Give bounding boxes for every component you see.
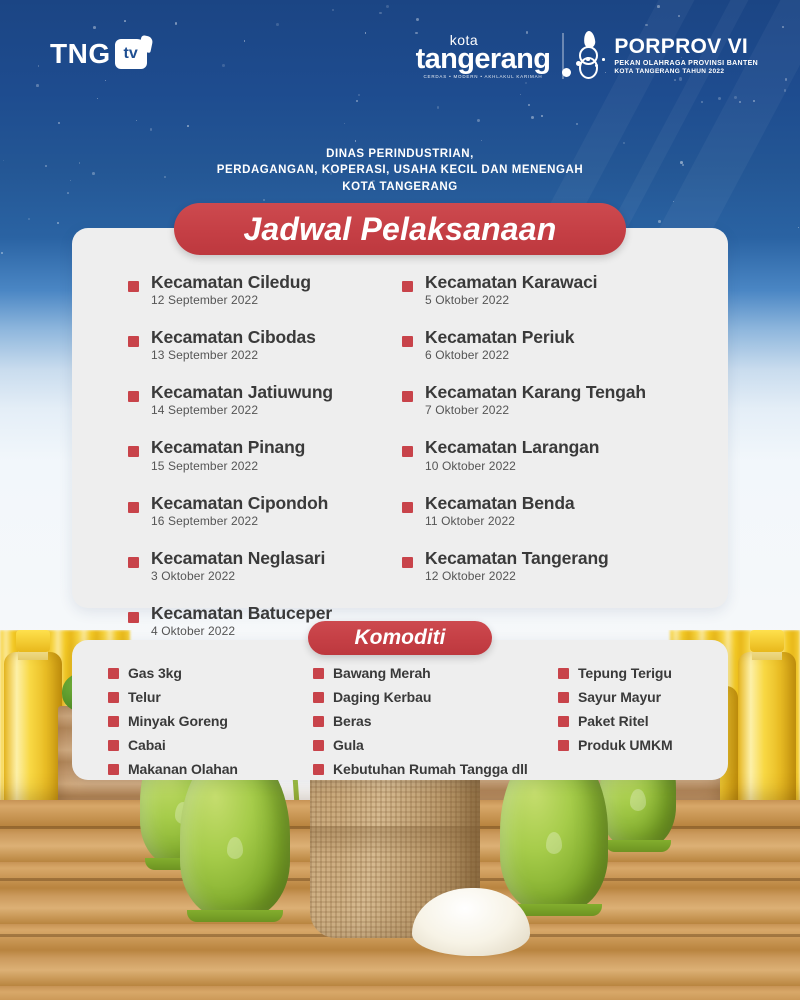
schedule-item-name: Kecamatan Larangan xyxy=(425,437,599,457)
star-dot xyxy=(263,199,265,201)
komoditi-item-label: Daging Kerbau xyxy=(333,689,431,705)
komoditi-column-2: Bawang MerahDaging KerbauBerasGulaKebutu… xyxy=(313,665,558,785)
star-dot xyxy=(222,64,225,67)
komoditi-item-label: Telur xyxy=(128,689,161,705)
star-dot xyxy=(541,115,542,116)
schedule-title-banner: Jadwal Pelaksanaan xyxy=(174,203,626,255)
star-dot xyxy=(437,106,440,109)
komoditi-item: Beras xyxy=(313,713,558,729)
bullet-square-icon xyxy=(128,557,139,568)
schedule-column-left: Kecamatan Ciledug12 September 2022Kecama… xyxy=(128,272,402,658)
schedule-item-text: Kecamatan Benda11 Oktober 2022 xyxy=(425,493,574,528)
komoditi-column-1: Gas 3kgTelurMinyak GorengCabaiMakanan Ol… xyxy=(108,665,313,785)
schedule-item-text: Kecamatan Periuk6 Oktober 2022 xyxy=(425,327,574,362)
bullet-square-icon xyxy=(558,716,569,727)
schedule-item-name: Kecamatan Batuceper xyxy=(151,603,332,623)
bullet-square-icon xyxy=(128,391,139,402)
department-line-1: DINAS PERINDUSTRIAN, xyxy=(0,146,800,162)
schedule-item-date: 10 Oktober 2022 xyxy=(425,459,599,473)
porprov-subtitle-1: PEKAN OLAHRAGA PROVINSI BANTEN xyxy=(614,60,758,67)
komoditi-item-label: Cabai xyxy=(128,737,166,753)
bullet-square-icon xyxy=(128,336,139,347)
bullet-square-icon xyxy=(313,692,324,703)
schedule-item-text: Kecamatan Jatiuwung14 September 2022 xyxy=(151,382,333,417)
star-dot xyxy=(658,220,661,223)
komoditi-item-label: Makanan Olahan xyxy=(128,761,238,777)
bullet-square-icon xyxy=(313,764,324,775)
schedule-item-date: 5 Oktober 2022 xyxy=(425,293,597,307)
cylinder-foot xyxy=(187,910,284,922)
schedule-item-text: Kecamatan Cipondoh16 September 2022 xyxy=(151,493,328,528)
schedule-item-name: Kecamatan Karawaci xyxy=(425,272,597,292)
komoditi-card: Gas 3kgTelurMinyak GorengCabaiMakanan Ol… xyxy=(72,640,728,780)
komoditi-item: Produk UMKM xyxy=(558,737,688,753)
schedule-item-date: 12 Oktober 2022 xyxy=(425,569,609,583)
star-dot xyxy=(93,26,96,29)
komoditi-item: Telur xyxy=(108,689,313,705)
schedule-item-name: Kecamatan Neglasari xyxy=(151,548,325,568)
schedule-item-name: Kecamatan Cibodas xyxy=(151,327,316,347)
komoditi-item: Cabai xyxy=(108,737,313,753)
schedule-item: Kecamatan Ciledug12 September 2022 xyxy=(128,272,402,307)
bullet-square-icon xyxy=(313,716,324,727)
schedule-item-text: Kecamatan Karang Tengah7 Oktober 2022 xyxy=(425,382,646,417)
star-dot xyxy=(481,140,482,141)
kota-dot-icon xyxy=(602,58,605,61)
komoditi-item: Makanan Olahan xyxy=(108,761,313,777)
star-dot xyxy=(520,94,521,95)
bullet-square-icon xyxy=(128,502,139,513)
komoditi-item-label: Bawang Merah xyxy=(333,665,431,681)
komoditi-item: Daging Kerbau xyxy=(313,689,558,705)
schedule-column-right: Kecamatan Karawaci5 Oktober 2022Kecamata… xyxy=(402,272,676,658)
komoditi-item: Kebutuhan Rumah Tangga dll xyxy=(313,761,558,777)
komoditi-item-label: Tepung Terigu xyxy=(578,665,672,681)
schedule-item-date: 11 Oktober 2022 xyxy=(425,514,574,528)
schedule-item-date: 3 Oktober 2022 xyxy=(151,569,325,583)
kota-tangerang-logo[interactable]: kota tangerang CERDAS • MODERN • AKHLAKU… xyxy=(416,33,551,80)
bullet-square-icon xyxy=(108,740,119,751)
schedule-item-name: Kecamatan Karang Tengah xyxy=(425,382,646,402)
star-dot xyxy=(356,100,358,102)
porprov-subtitle-2: KOTA TANGERANG TAHUN 2022 xyxy=(614,69,758,76)
schedule-item-date: 6 Oktober 2022 xyxy=(425,348,574,362)
schedule-item: Kecamatan Larangan10 Oktober 2022 xyxy=(402,437,676,472)
schedule-item: Kecamatan Benda11 Oktober 2022 xyxy=(402,493,676,528)
schedule-item-name: Kecamatan Periuk xyxy=(425,327,574,347)
komoditi-item-label: Sayur Mayur xyxy=(578,689,661,705)
bullet-square-icon xyxy=(108,692,119,703)
star-dot xyxy=(97,98,98,99)
schedule-title-text: Jadwal Pelaksanaan xyxy=(243,211,556,248)
bullet-square-icon xyxy=(402,557,413,568)
kota-dot-icon xyxy=(562,68,571,77)
schedule-item-text: Kecamatan Neglasari3 Oktober 2022 xyxy=(151,548,325,583)
cylinder-foot xyxy=(605,840,672,852)
komoditi-item: Bawang Merah xyxy=(313,665,558,681)
star-dot xyxy=(38,65,40,67)
star-dot xyxy=(525,82,527,84)
flame-emblem xyxy=(546,832,562,854)
komoditi-columns: Gas 3kgTelurMinyak GorengCabaiMakanan Ol… xyxy=(72,665,728,785)
schedule-item-date: 15 September 2022 xyxy=(151,459,305,473)
star-dot xyxy=(344,123,345,124)
star-dot xyxy=(36,84,39,87)
star-dot xyxy=(718,97,721,100)
tangerang-label: tangerang xyxy=(416,45,551,74)
tng-logo-text: TNG xyxy=(50,38,111,70)
star-dot xyxy=(528,104,530,106)
department-line-3: KOTA TANGERANG xyxy=(0,179,800,195)
komoditi-item-label: Gula xyxy=(333,737,364,753)
schedule-item-name: Kecamatan Ciledug xyxy=(151,272,311,292)
komoditi-title-banner: Komoditi xyxy=(308,621,492,655)
bullet-square-icon xyxy=(402,391,413,402)
star-dot xyxy=(332,9,334,11)
flame-emblem xyxy=(630,789,646,811)
schedule-item-name: Kecamatan Pinang xyxy=(151,437,305,457)
bullet-square-icon xyxy=(402,281,413,292)
kota-logo-dots xyxy=(562,56,608,76)
komoditi-column-3: Tepung TeriguSayur MayurPaket RitelProdu… xyxy=(558,665,688,785)
bullet-square-icon xyxy=(402,336,413,347)
star-dot xyxy=(358,94,360,96)
bullet-square-icon xyxy=(558,692,569,703)
star-dot xyxy=(477,119,480,122)
bullet-square-icon xyxy=(108,716,119,727)
tng-tv-logo[interactable]: TNG tv xyxy=(50,38,147,70)
komoditi-item: Gula xyxy=(313,737,558,753)
star-dot xyxy=(379,12,381,14)
star-dot xyxy=(276,23,279,26)
kota-dot-icon xyxy=(576,61,581,66)
komoditi-item: Paket Ritel xyxy=(558,713,688,729)
schedule-item: Kecamatan Karawaci5 Oktober 2022 xyxy=(402,272,676,307)
header-logo-group: kota tangerang CERDAS • MODERN • AKHLAKU… xyxy=(416,30,758,82)
schedule-item-date: 4 Oktober 2022 xyxy=(151,624,332,638)
star-dot xyxy=(58,122,60,124)
schedule-card: Kecamatan Ciledug12 September 2022Kecama… xyxy=(72,228,728,608)
schedule-item-name: Kecamatan Benda xyxy=(425,493,574,513)
tv-badge-text: tv xyxy=(123,46,137,62)
komoditi-item: Tepung Terigu xyxy=(558,665,688,681)
kota-dot-icon xyxy=(586,57,590,61)
komoditi-item: Minyak Goreng xyxy=(108,713,313,729)
schedule-item: Kecamatan Pinang15 September 2022 xyxy=(128,437,402,472)
porprov-title: PORPROV VI xyxy=(614,36,758,58)
star-dot xyxy=(244,40,245,41)
department-heading: DINAS PERINDUSTRIAN, PERDAGANGAN, KOPERA… xyxy=(0,146,800,195)
schedule-item-text: Kecamatan Larangan10 Oktober 2022 xyxy=(425,437,599,472)
star-dot xyxy=(28,218,30,220)
schedule-item-text: Kecamatan Cibodas13 September 2022 xyxy=(151,327,316,362)
star-dot xyxy=(105,80,106,81)
bullet-square-icon xyxy=(313,740,324,751)
star-dot xyxy=(365,32,367,34)
bullet-square-icon xyxy=(108,764,119,775)
komoditi-item-label: Produk UMKM xyxy=(578,737,673,753)
schedule-item-text: Kecamatan Ciledug12 September 2022 xyxy=(151,272,311,307)
bullet-square-icon xyxy=(128,281,139,292)
tv-badge-icon: tv xyxy=(115,39,147,69)
schedule-item-text: Kecamatan Batuceper4 Oktober 2022 xyxy=(151,603,332,638)
bullet-square-icon xyxy=(558,740,569,751)
schedule-item: Kecamatan Neglasari3 Oktober 2022 xyxy=(128,548,402,583)
komoditi-item-label: Beras xyxy=(333,713,371,729)
oil-bottle-cap xyxy=(750,630,784,652)
star-dot xyxy=(798,227,800,229)
star-dot xyxy=(187,125,189,127)
star-dot xyxy=(136,120,137,121)
bullet-square-icon xyxy=(128,446,139,457)
porprov-logo[interactable]: PORPROV VI PEKAN OLAHRAGA PROVINSI BANTE… xyxy=(614,36,758,76)
star-dot xyxy=(175,22,177,24)
schedule-item: Kecamatan Cipondoh16 September 2022 xyxy=(128,493,402,528)
flame-emblem xyxy=(227,837,243,859)
schedule-item: Kecamatan Cibodas13 September 2022 xyxy=(128,327,402,362)
star-dot xyxy=(386,5,389,8)
bullet-square-icon xyxy=(558,668,569,679)
star-dot xyxy=(150,128,152,130)
schedule-item-date: 14 September 2022 xyxy=(151,403,333,417)
bullet-square-icon xyxy=(402,446,413,457)
komoditi-item-label: Minyak Goreng xyxy=(128,713,228,729)
department-line-2: PERDAGANGAN, KOPERASI, USAHA KECIL DAN M… xyxy=(0,162,800,178)
komoditi-item-label: Gas 3kg xyxy=(128,665,182,681)
oil-bottle-cap xyxy=(16,630,50,652)
bullet-square-icon xyxy=(402,502,413,513)
star-dot xyxy=(576,123,577,124)
schedule-item-date: 7 Oktober 2022 xyxy=(425,403,646,417)
schedule-item: Kecamatan Tangerang12 Oktober 2022 xyxy=(402,548,676,583)
kota-dot-icon xyxy=(595,64,598,67)
komoditi-item: Sayur Mayur xyxy=(558,689,688,705)
poster-root: TNG tv kota tangerang CERDAS • MODERN • … xyxy=(0,0,800,1000)
star-dot xyxy=(124,20,126,22)
schedule-item: Kecamatan Periuk6 Oktober 2022 xyxy=(402,327,676,362)
sack-fold xyxy=(310,826,480,852)
bullet-square-icon xyxy=(128,612,139,623)
star-dot xyxy=(531,116,534,119)
schedule-item-text: Kecamatan Pinang15 September 2022 xyxy=(151,437,305,472)
schedule-item-name: Kecamatan Cipondoh xyxy=(151,493,328,513)
schedule-item-date: 16 September 2022 xyxy=(151,514,328,528)
schedule-item: Kecamatan Karang Tengah7 Oktober 2022 xyxy=(402,382,676,417)
kota-tagline: CERDAS • MODERN • AKHLAKUL KARIMAH xyxy=(416,75,551,80)
bullet-square-icon xyxy=(313,668,324,679)
schedule-item-text: Kecamatan Karawaci5 Oktober 2022 xyxy=(425,272,597,307)
komoditi-item: Gas 3kg xyxy=(108,665,313,681)
schedule-item-name: Kecamatan Jatiuwung xyxy=(151,382,333,402)
komoditi-title-text: Komoditi xyxy=(355,626,446,650)
schedule-item-text: Kecamatan Tangerang12 Oktober 2022 xyxy=(425,548,609,583)
komoditi-item-label: Kebutuhan Rumah Tangga dll xyxy=(333,761,528,777)
komoditi-item-label: Paket Ritel xyxy=(578,713,649,729)
star-dot xyxy=(701,101,703,103)
schedule-item-name: Kecamatan Tangerang xyxy=(425,548,609,568)
schedule-columns: Kecamatan Ciledug12 September 2022Kecama… xyxy=(72,272,728,658)
star-dot xyxy=(1,252,3,254)
star-dot xyxy=(355,140,357,142)
star-dot xyxy=(57,222,59,224)
star-dot xyxy=(623,142,625,144)
star-dot xyxy=(416,18,419,21)
schedule-item-date: 12 September 2022 xyxy=(151,293,311,307)
schedule-item: Kecamatan Jatiuwung14 September 2022 xyxy=(128,382,402,417)
bullet-square-icon xyxy=(108,668,119,679)
schedule-item-date: 13 September 2022 xyxy=(151,348,316,362)
